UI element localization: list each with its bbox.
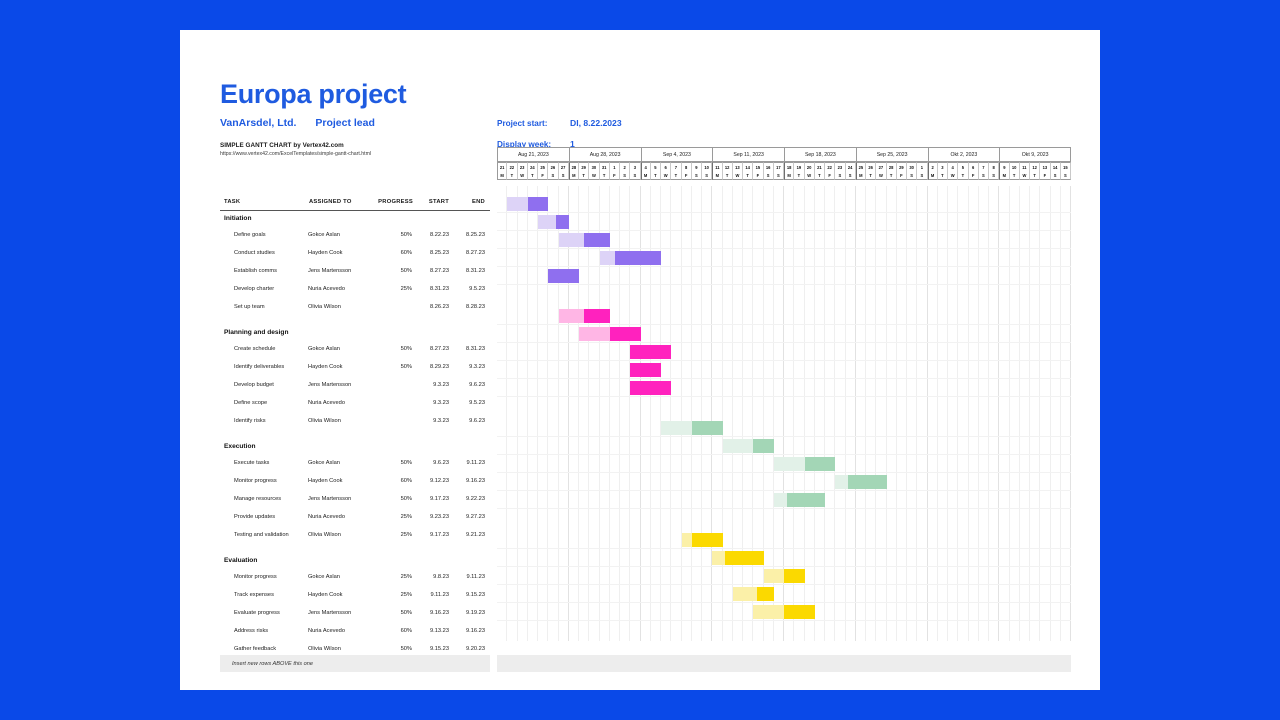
cell-task-name[interactable]: Set up team [220,298,305,316]
cell-end-date[interactable]: 9.11.23 [454,454,490,472]
day-letter-cell: F [1040,171,1050,180]
progress-value: 50% [374,346,419,352]
week-header-cell: Okt 9, 2023 [999,147,1071,162]
day-letter-cell: T [671,171,681,180]
table-row[interactable]: Evaluate progressJens Martensson50%9.16.… [220,604,490,622]
week-header-cell: Aug 28, 2023 [569,147,641,162]
week-header-cell: Okt 2, 2023 [928,147,1000,162]
day-letter-cell: T [794,171,804,180]
cell-end-date[interactable]: 8.28.23 [454,298,490,316]
day-letter-cell: S [989,171,999,180]
cell-end-date[interactable]: 8.27.23 [454,244,490,262]
gantt-grid [497,186,1071,641]
gantt-bar[interactable] [600,251,662,265]
day-number-cell: 15 [1061,162,1071,171]
gantt-bar-remaining [528,197,549,211]
day-letter-cell: S [835,171,845,180]
day-number-cell: 28 [569,162,579,171]
day-number-cell: 25 [856,162,866,171]
cell-end-date[interactable]: 9.6.23 [454,376,490,394]
gantt-bar-complete [538,215,556,229]
day-number-cell: 5 [958,162,968,171]
day-number-cell: 13 [733,162,743,171]
day-number-cell: 6 [969,162,979,171]
table-row[interactable]: Develop budgetJens Martensson9.3.239.6.2… [220,376,490,394]
gantt-bar-remaining [692,533,723,547]
gantt-bar-remaining [630,345,671,359]
table-row[interactable]: Develop charterNuria Acevedo25%8.31.239.… [220,280,490,298]
column-header-task[interactable]: TASK [220,195,305,210]
day-letter-cell: T [958,171,968,180]
day-number-cell: 9 [692,162,702,171]
cell-task-name[interactable]: Execute tasks [220,454,305,472]
day-letter-cell: W [518,171,528,180]
cell-assigned-to[interactable]: Jens Martensson [305,490,374,508]
cell-assigned-to[interactable]: Jens Martensson [305,376,374,394]
gantt-bar-complete [661,421,692,435]
day-letter-cell: F [825,171,835,180]
day-number-cell: 9 [999,162,1009,171]
cell-progress[interactable]: 25% [374,508,419,526]
progress-cell-wrapper: 50% [374,262,419,280]
timeline-day-number-row: 2122232425262728293031123456789101112131… [497,162,1071,171]
cell-start-date[interactable]: 9.17.23 [419,490,454,508]
cell-assigned-to[interactable]: Hayden Cook [305,358,374,376]
day-number-cell: 26 [548,162,558,171]
cell-progress[interactable]: 60% [374,622,419,640]
gantt-bar[interactable] [753,605,815,619]
table-row[interactable]: Define goalsGokce Aslan50%8.22.238.25.23 [220,226,490,244]
day-number-cell: 3 [938,162,948,171]
cell-assigned-to[interactable]: Nuria Acevedo [305,394,374,412]
cell-progress[interactable]: 60% [374,244,419,262]
gantt-bar-complete [600,251,615,265]
cell-assigned-to[interactable]: Jens Martensson [305,262,374,280]
cell-end-date[interactable]: 9.15.23 [454,586,490,604]
gantt-bar-remaining [784,569,805,583]
cell-end-date[interactable]: 8.25.23 [454,226,490,244]
cell-start-date[interactable]: 9.16.23 [419,604,454,622]
day-number-cell: 14 [743,162,753,171]
credit-url[interactable]: https://www.vertex42.com/ExcelTemplates/… [220,151,520,157]
progress-cell-wrapper: 50% [374,340,419,358]
gantt-bar[interactable] [507,197,548,211]
progress-cell-wrapper [374,298,419,316]
cell-progress[interactable]: 50% [374,358,419,376]
cell-start-date[interactable]: 9.3.23 [419,394,454,412]
cell-start-date[interactable]: 9.11.23 [419,586,454,604]
day-letter-cell: S [620,171,630,180]
table-row[interactable]: Identify deliverablesHayden Cook50%8.29.… [220,358,490,376]
cell-assigned-to[interactable]: Gokce Aslan [305,568,374,586]
table-row[interactable]: Create scheduleGokce Aslan50%8.27.238.31… [220,340,490,358]
day-letter-cell: S [764,171,774,180]
cell-progress[interactable] [374,298,419,316]
day-letter-cell: F [897,171,907,180]
cell-progress[interactable]: 50% [374,262,419,280]
gantt-bar[interactable] [733,587,774,601]
progress-value: 50% [374,460,419,466]
gantt-bar-remaining [784,605,815,619]
table-row[interactable]: Provide updatesNuria Acevedo25%9.23.239.… [220,508,490,526]
gantt-bar[interactable] [764,569,805,583]
insert-rows-note: Insert new rows ABOVE this one [220,655,490,672]
grid-row-line [497,230,1071,231]
gantt-bar-complete [559,309,585,323]
day-letter-cell: M [497,171,507,180]
day-number-cell: 14 [1051,162,1061,171]
day-letter-cell: M [569,171,579,180]
table-row[interactable]: Testing and validationOlivia Wilson25%9.… [220,526,490,544]
day-number-cell: 17 [774,162,784,171]
day-number-cell: 10 [1010,162,1020,171]
table-row[interactable]: Define scopeNuria Acevedo9.3.239.5.23 [220,394,490,412]
grid-row-line [497,212,1071,213]
gantt-bar[interactable] [774,457,836,471]
table-row[interactable]: Establish commsJens Martensson50%8.27.23… [220,262,490,280]
timeline-day-letter-row: MTWTFSSMTWTFSSMTWTFSSMTWTFSSMTWTFSSMTWTF… [497,171,1071,180]
cell-progress[interactable] [374,376,419,394]
progress-value: 50% [374,232,419,238]
gantt-bar-remaining [584,233,610,247]
day-letter-cell: M [856,171,866,180]
day-number-cell: 7 [979,162,989,171]
table-row[interactable]: Monitor progressHayden Cook60%9.12.239.1… [220,472,490,490]
progress-value: 25% [374,574,419,580]
cell-assigned-to[interactable]: Olivia Wilson [305,412,374,430]
grid-row-line [497,342,1071,343]
gantt-bar[interactable] [538,215,569,229]
cell-assigned-to[interactable]: Nuria Acevedo [305,508,374,526]
cell-start-date[interactable]: 9.3.23 [419,376,454,394]
cell-start-date[interactable]: 9.6.23 [419,454,454,472]
gantt-bar-complete [559,233,585,247]
day-letter-cell: S [630,171,640,180]
day-number-cell: 22 [507,162,517,171]
cell-start-date[interactable]: 9.8.23 [419,568,454,586]
day-number-cell: 21 [497,162,507,171]
day-number-cell: 2 [928,162,938,171]
gantt-bar-complete [712,551,725,565]
cell-assigned-to[interactable]: Gokce Aslan [305,454,374,472]
title-block: Europa project VanArsdel, Ltd. Project l… [220,80,520,157]
gantt-bar-complete [682,533,692,547]
day-number-cell: 5 [651,162,661,171]
cell-task-name[interactable]: Address risks [220,622,305,640]
day-letter-cell: M [999,171,1009,180]
gantt-bar[interactable] [630,345,671,359]
day-letter-cell: T [815,171,825,180]
spreadsheet-sheet: Europa project VanArsdel, Ltd. Project l… [180,30,1100,690]
section-header-row: Evaluation [220,553,490,568]
progress-cell-wrapper: 50% [374,490,419,508]
section-title: Execution [220,439,490,454]
column-header-assigned-to[interactable]: ASSIGNED TO [305,195,374,210]
column-header-end[interactable]: END [454,195,490,210]
gantt-bar-remaining [787,493,825,507]
gantt-bar[interactable] [835,475,886,489]
cell-start-date[interactable]: 9.3.23 [419,412,454,430]
cell-progress[interactable]: 50% [374,490,419,508]
gantt-bar[interactable] [630,363,661,377]
gantt-bar[interactable] [774,493,825,507]
cell-progress[interactable]: 50% [374,454,419,472]
progress-cell-wrapper: 25% [374,280,419,298]
day-letter-cell: T [723,171,733,180]
day-number-cell: 24 [846,162,856,171]
cell-assigned-to[interactable]: Jens Martensson [305,604,374,622]
gantt-bar[interactable] [579,327,641,341]
day-letter-cell: T [866,171,876,180]
cell-progress[interactable]: 25% [374,586,419,604]
cell-end-date[interactable]: 9.16.23 [454,622,490,640]
day-letter-cell: M [928,171,938,180]
cell-task-name[interactable]: Manage resources [220,490,305,508]
day-number-cell: 6 [661,162,671,171]
progress-cell-wrapper: 25% [374,568,419,586]
table-row[interactable]: Conduct studiesHayden Cook60%8.25.238.27… [220,244,490,262]
progress-value: 50% [374,268,419,274]
cell-task-name[interactable]: Track expenses [220,586,305,604]
table-row[interactable]: Monitor progressGokce Aslan25%9.8.239.11… [220,568,490,586]
day-number-cell: 24 [528,162,538,171]
progress-cell-wrapper: 25% [374,526,419,544]
cell-assigned-to[interactable]: Hayden Cook [305,472,374,490]
cell-task-name[interactable]: Define scope [220,394,305,412]
gantt-bar-complete [753,605,784,619]
day-number-cell: 28 [887,162,897,171]
cell-task-name[interactable]: Establish comms [220,262,305,280]
day-letter-cell: S [702,171,712,180]
cell-task-name[interactable]: Conduct studies [220,244,305,262]
section-header-row: Planning and design [220,325,490,340]
gantt-bar[interactable] [548,269,579,283]
grid-row-line [497,284,1071,285]
cell-assigned-to[interactable]: Olivia Wilson [305,298,374,316]
cell-progress[interactable] [374,412,419,430]
cell-assigned-to[interactable]: Gokce Aslan [305,226,374,244]
cell-task-name[interactable]: Monitor progress [220,472,305,490]
day-letter-cell: F [969,171,979,180]
grid-row-line [497,454,1071,455]
insert-rows-note-spacer [497,655,1071,672]
cell-end-date[interactable]: 9.5.23 [454,280,490,298]
day-number-cell: 19 [794,162,804,171]
cell-start-date[interactable]: 9.17.23 [419,526,454,544]
progress-value: 60% [374,250,419,256]
progress-cell-wrapper: 50% [374,604,419,622]
progress-cell-wrapper [374,376,419,394]
day-number-cell: 13 [1040,162,1050,171]
cell-start-date[interactable]: 8.31.23 [419,280,454,298]
day-number-cell: 22 [825,162,835,171]
day-letter-cell: W [876,171,886,180]
progress-value: 25% [374,532,419,538]
gantt-bar-remaining [610,327,641,341]
cell-assigned-to[interactable]: Olivia Wilson [305,526,374,544]
section-header-row: Execution [220,439,490,454]
cell-progress[interactable]: 25% [374,280,419,298]
gantt-bar-remaining [556,215,568,229]
grid-row-line [497,436,1071,437]
progress-value: 60% [374,628,419,634]
progress-value: 50% [374,364,419,370]
day-letter-cell: F [610,171,620,180]
cell-progress[interactable]: 60% [374,472,419,490]
cell-assigned-to[interactable]: Gokce Aslan [305,340,374,358]
gantt-bar[interactable] [559,233,610,247]
cell-end-date[interactable]: 9.3.23 [454,358,490,376]
day-letter-cell: F [682,171,692,180]
cell-end-date[interactable]: 8.31.23 [454,262,490,280]
gantt-bar-complete [835,475,848,489]
cell-start-date[interactable]: 8.27.23 [419,262,454,280]
day-letter-cell: M [784,171,794,180]
cell-end-date[interactable]: 8.31.23 [454,340,490,358]
cell-task-name[interactable]: Monitor progress [220,568,305,586]
day-number-cell: 23 [518,162,528,171]
cell-end-date[interactable]: 9.21.23 [454,526,490,544]
day-number-cell: 12 [723,162,733,171]
gantt-bar-complete [507,197,528,211]
cell-start-date[interactable]: 9.13.23 [419,622,454,640]
progress-value: 50% [374,646,419,652]
progress-cell-wrapper: 25% [374,508,419,526]
section-header-row: Initiation [220,210,490,226]
day-letter-cell: S [774,171,784,180]
cell-progress[interactable]: 25% [374,568,419,586]
credit-line: SIMPLE GANTT CHART by Vertex42.com [220,142,520,149]
cell-end-date[interactable]: 9.11.23 [454,568,490,586]
column-header-start[interactable]: START [419,195,454,210]
day-letter-cell: W [661,171,671,180]
cell-start-date[interactable]: 8.27.23 [419,340,454,358]
project-start-value[interactable]: DI, 8.22.2023 [570,118,622,128]
gantt-bar-remaining [692,421,723,435]
subtitle-row: VanArsdel, Ltd. Project lead [220,117,520,129]
cell-end-date[interactable]: 9.16.23 [454,472,490,490]
company-name: VanArsdel, Ltd. [220,117,296,129]
day-number-cell: 18 [784,162,794,171]
gantt-bar[interactable] [712,551,763,565]
day-letter-cell: T [651,171,661,180]
cell-start-date[interactable]: 9.23.23 [419,508,454,526]
gantt-bar-complete [733,587,758,601]
cell-task-name[interactable]: Define goals [220,226,305,244]
table-row[interactable]: Execute tasksGokce Aslan50%9.6.239.11.23 [220,454,490,472]
grid-row-line [497,396,1071,397]
column-header-progress[interactable]: PROGRESS [374,195,419,210]
cell-progress[interactable]: 50% [374,604,419,622]
cell-assigned-to[interactable]: Nuria Acevedo [305,622,374,640]
gantt-bar-remaining [630,363,661,377]
progress-value: 25% [374,592,419,598]
cell-progress[interactable]: 25% [374,526,419,544]
day-letter-cell: W [733,171,743,180]
cell-start-date[interactable]: 9.12.23 [419,472,454,490]
table-row[interactable]: Track expensesHayden Cook25%9.11.239.15.… [220,586,490,604]
cell-start-date[interactable]: 8.26.23 [419,298,454,316]
gantt-bar-remaining [584,309,610,323]
cell-assigned-to[interactable]: Hayden Cook [305,244,374,262]
day-letter-cell: T [600,171,610,180]
cell-task-name[interactable]: Identify deliverables [220,358,305,376]
day-number-cell: 26 [866,162,876,171]
day-letter-cell: T [528,171,538,180]
timeline-header: Aug 21, 2023Aug 28, 2023Sep 4, 2023Sep 1… [497,147,1071,180]
gantt-bar[interactable] [682,533,723,547]
day-letter-cell: W [1020,171,1030,180]
cell-task-name[interactable]: Testing and validation [220,526,305,544]
day-letter-cell: S [1061,171,1071,180]
gantt-bar[interactable] [559,309,610,323]
gantt-bar-complete [774,493,787,507]
table-row[interactable]: Manage resourcesJens Martensson50%9.17.2… [220,490,490,508]
cell-end-date[interactable]: 9.6.23 [454,412,490,430]
day-number-cell: 16 [764,162,774,171]
week-header-cell: Sep 18, 2023 [784,147,856,162]
day-letter-cell: T [1030,171,1040,180]
gantt-bar[interactable] [661,421,723,435]
cell-assigned-to[interactable]: Hayden Cook [305,586,374,604]
progress-value: 25% [374,286,419,292]
table-row[interactable]: Set up teamOlivia Wilson8.26.238.28.23 [220,298,490,316]
cell-start-date[interactable]: 8.29.23 [419,358,454,376]
day-number-cell: 2 [620,162,630,171]
cell-progress[interactable] [374,394,419,412]
cell-task-name[interactable]: Create schedule [220,340,305,358]
day-letter-cell: S [907,171,917,180]
cell-assigned-to[interactable]: Nuria Acevedo [305,280,374,298]
cell-progress[interactable]: 50% [374,226,419,244]
project-start-label: Project start: [497,119,570,128]
day-letter-cell: S [979,171,989,180]
grid-row-line [497,378,1071,379]
section-title: Planning and design [220,325,490,340]
cell-progress[interactable]: 50% [374,340,419,358]
gantt-bar[interactable] [723,439,774,453]
day-number-cell: 23 [835,162,845,171]
cell-task-name[interactable]: Develop charter [220,280,305,298]
cell-start-date[interactable]: 8.25.23 [419,244,454,262]
grid-row-line [497,360,1071,361]
cell-start-date[interactable]: 8.22.23 [419,226,454,244]
grid-row-line [497,566,1071,567]
cell-end-date[interactable]: 9.5.23 [454,394,490,412]
table-row[interactable]: Address risksNuria Acevedo60%9.13.239.16… [220,622,490,640]
cell-end-date[interactable]: 9.22.23 [454,490,490,508]
gantt-bar[interactable] [630,381,671,395]
progress-cell-wrapper: 50% [374,358,419,376]
day-number-cell: 3 [630,162,640,171]
day-number-cell: 4 [948,162,958,171]
cell-end-date[interactable]: 9.27.23 [454,508,490,526]
cell-task-name[interactable]: Provide updates [220,508,305,526]
timeline-week-row: Aug 21, 2023Aug 28, 2023Sep 4, 2023Sep 1… [497,147,1071,162]
task-table-body: InitiationDefine goalsGokce Aslan50%8.22… [220,210,490,658]
cell-end-date[interactable]: 9.19.23 [454,604,490,622]
week-header-cell: Sep 11, 2023 [712,147,784,162]
cell-task-name[interactable]: Develop budget [220,376,305,394]
day-letter-cell: F [753,171,763,180]
day-number-cell: 8 [989,162,999,171]
day-letter-cell: W [805,171,815,180]
cell-task-name[interactable]: Identify risks [220,412,305,430]
day-number-cell: 8 [682,162,692,171]
grid-row-line [497,584,1071,585]
cell-task-name[interactable]: Evaluate progress [220,604,305,622]
table-row[interactable]: Identify risksOlivia Wilson9.3.239.6.23 [220,412,490,430]
